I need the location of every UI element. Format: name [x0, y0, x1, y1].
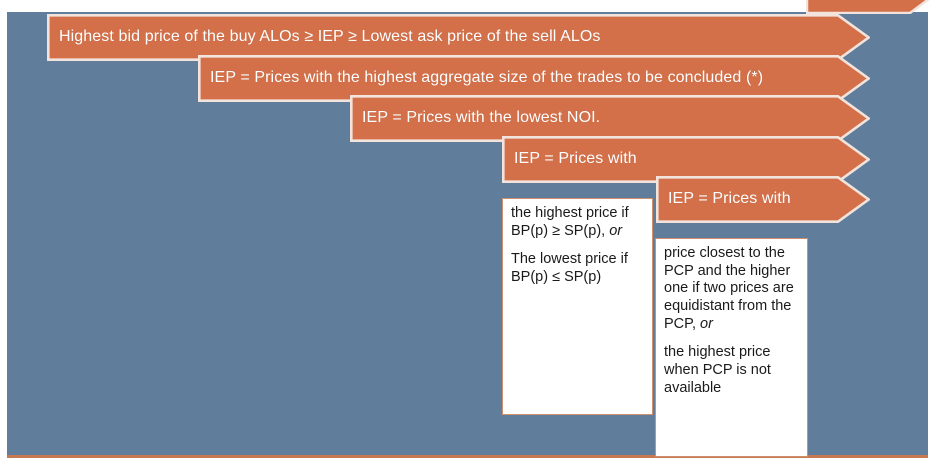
arrow-label-3: IEP = Prices with the lowest NOI.: [362, 95, 600, 142]
callout-1-paragraph-2: The lowest price if BP(p) ≤ SP(p): [511, 251, 646, 286]
arrow-label-1: Highest bid price of the buy ALOs ≥ IEP …: [59, 14, 600, 61]
callout-1-paragraph-1: the highest price if BP(p) ≥ SP(p), or: [511, 205, 646, 240]
arrow-banner-1[interactable]: Highest bid price of the buy ALOs ≥ IEP …: [47, 14, 870, 61]
slide-canvas: Highest bid price of the buy ALOs ≥ IEP …: [0, 0, 942, 472]
arrow-banner-3[interactable]: IEP = Prices with the lowest NOI.: [350, 95, 870, 142]
arrow-banner-partial-top: [806, 0, 942, 14]
callout-2-paragraph-1: price closest to the PCP and the higher …: [664, 245, 801, 333]
callout-2-paragraph-2: the highest price when PCP is not availa…: [664, 344, 801, 397]
arrow-shape-partial-top: [806, 0, 942, 14]
arrow-label-5: IEP = Prices with: [668, 176, 791, 223]
callout-box-1: the highest price if BP(p) ≥ SP(p), or T…: [502, 198, 653, 415]
arrow-label-4: IEP = Prices with: [514, 136, 637, 183]
arrow-banner-5[interactable]: IEP = Prices with: [656, 176, 870, 223]
callout-box-2: price closest to the PCP and the higher …: [655, 238, 808, 457]
